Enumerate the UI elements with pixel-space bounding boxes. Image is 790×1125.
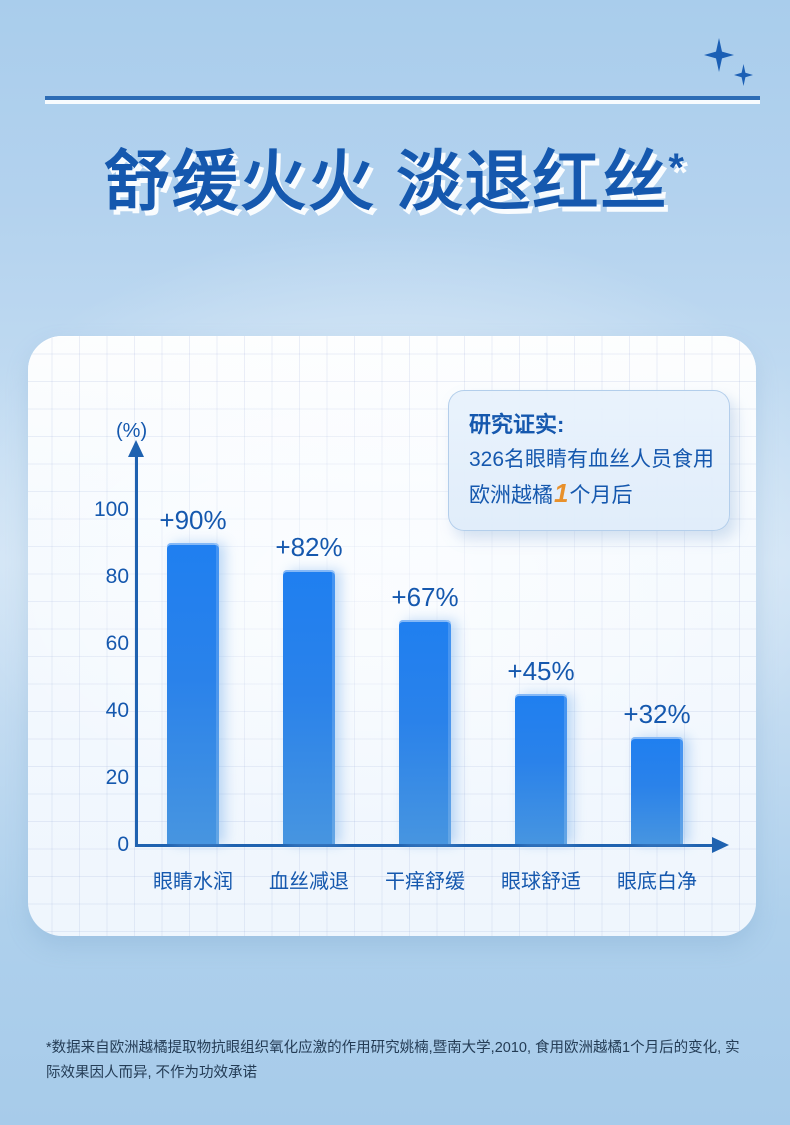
bar-category-label: 眼球舒适 [501,865,581,894]
y-tick-label: 60 [69,632,129,656]
bar-item [631,737,683,844]
bar-value-label: +90% [159,505,226,536]
bar-item [515,694,567,844]
bar-category-label: 血丝减退 [269,865,349,894]
bar-category-label: 眼底白净 [617,865,697,894]
study-callout-line-1: 326名眼睛有血丝人员食用 [469,445,709,475]
bar-value-label: +32% [623,699,690,730]
bar-value-label: +67% [391,582,458,613]
bar-category-label: 眼睛水润 [153,865,233,894]
study-callout-highlight: 1 [553,478,569,508]
page-title-text: 舒缓火火 淡退红丝 [104,144,668,218]
top-divider [45,96,760,100]
page-title-asterisk: * [668,146,686,190]
y-tick-label: 40 [69,699,129,723]
footnote-disclaimer: *数据来自欧洲越橘提取物抗眼组织氧化应激的作用研究姚楠,暨南大学,2010, 食… [46,1036,746,1087]
bar-group: +82% 血丝减退 [251,336,367,936]
study-callout: 研究证实: 326名眼睛有血丝人员食用 欧洲越橘1个月后 [448,390,730,531]
bar-chart: (%) 0 20 40 60 80 100 +90% 眼睛水润 [28,336,756,936]
study-callout-line-2-post: 个月后 [569,484,632,507]
study-callout-title: 研究证实: [469,407,709,439]
chart-card: (%) 0 20 40 60 80 100 +90% 眼睛水润 [28,336,756,936]
bar-item [399,620,451,844]
bar-category-label: 干痒舒缓 [385,865,465,894]
bar-item [283,570,335,844]
bar-item [167,543,219,844]
bar-value-label: +45% [507,656,574,687]
y-tick-label: 0 [69,833,129,857]
sparkle-decoration [700,38,770,94]
y-tick-label: 100 [69,498,129,522]
y-tick-label: 20 [69,766,129,790]
y-tick-label: 80 [69,565,129,589]
y-axis-ticks: 0 20 40 60 80 100 [64,336,129,936]
bar-group: +90% 眼睛水润 [135,336,251,936]
study-callout-line-2-pre: 欧洲越橘 [469,484,553,507]
sparkle-large-icon [704,38,734,72]
bar-value-label: +82% [275,532,342,563]
study-callout-line-2: 欧洲越橘1个月后 [469,475,709,512]
promo-page: 舒缓火火 淡退红丝* (%) 0 20 40 60 80 100 +90% [0,0,790,1125]
sparkle-small-icon [734,64,753,86]
page-title: 舒缓火火 淡退红丝* [0,128,790,224]
